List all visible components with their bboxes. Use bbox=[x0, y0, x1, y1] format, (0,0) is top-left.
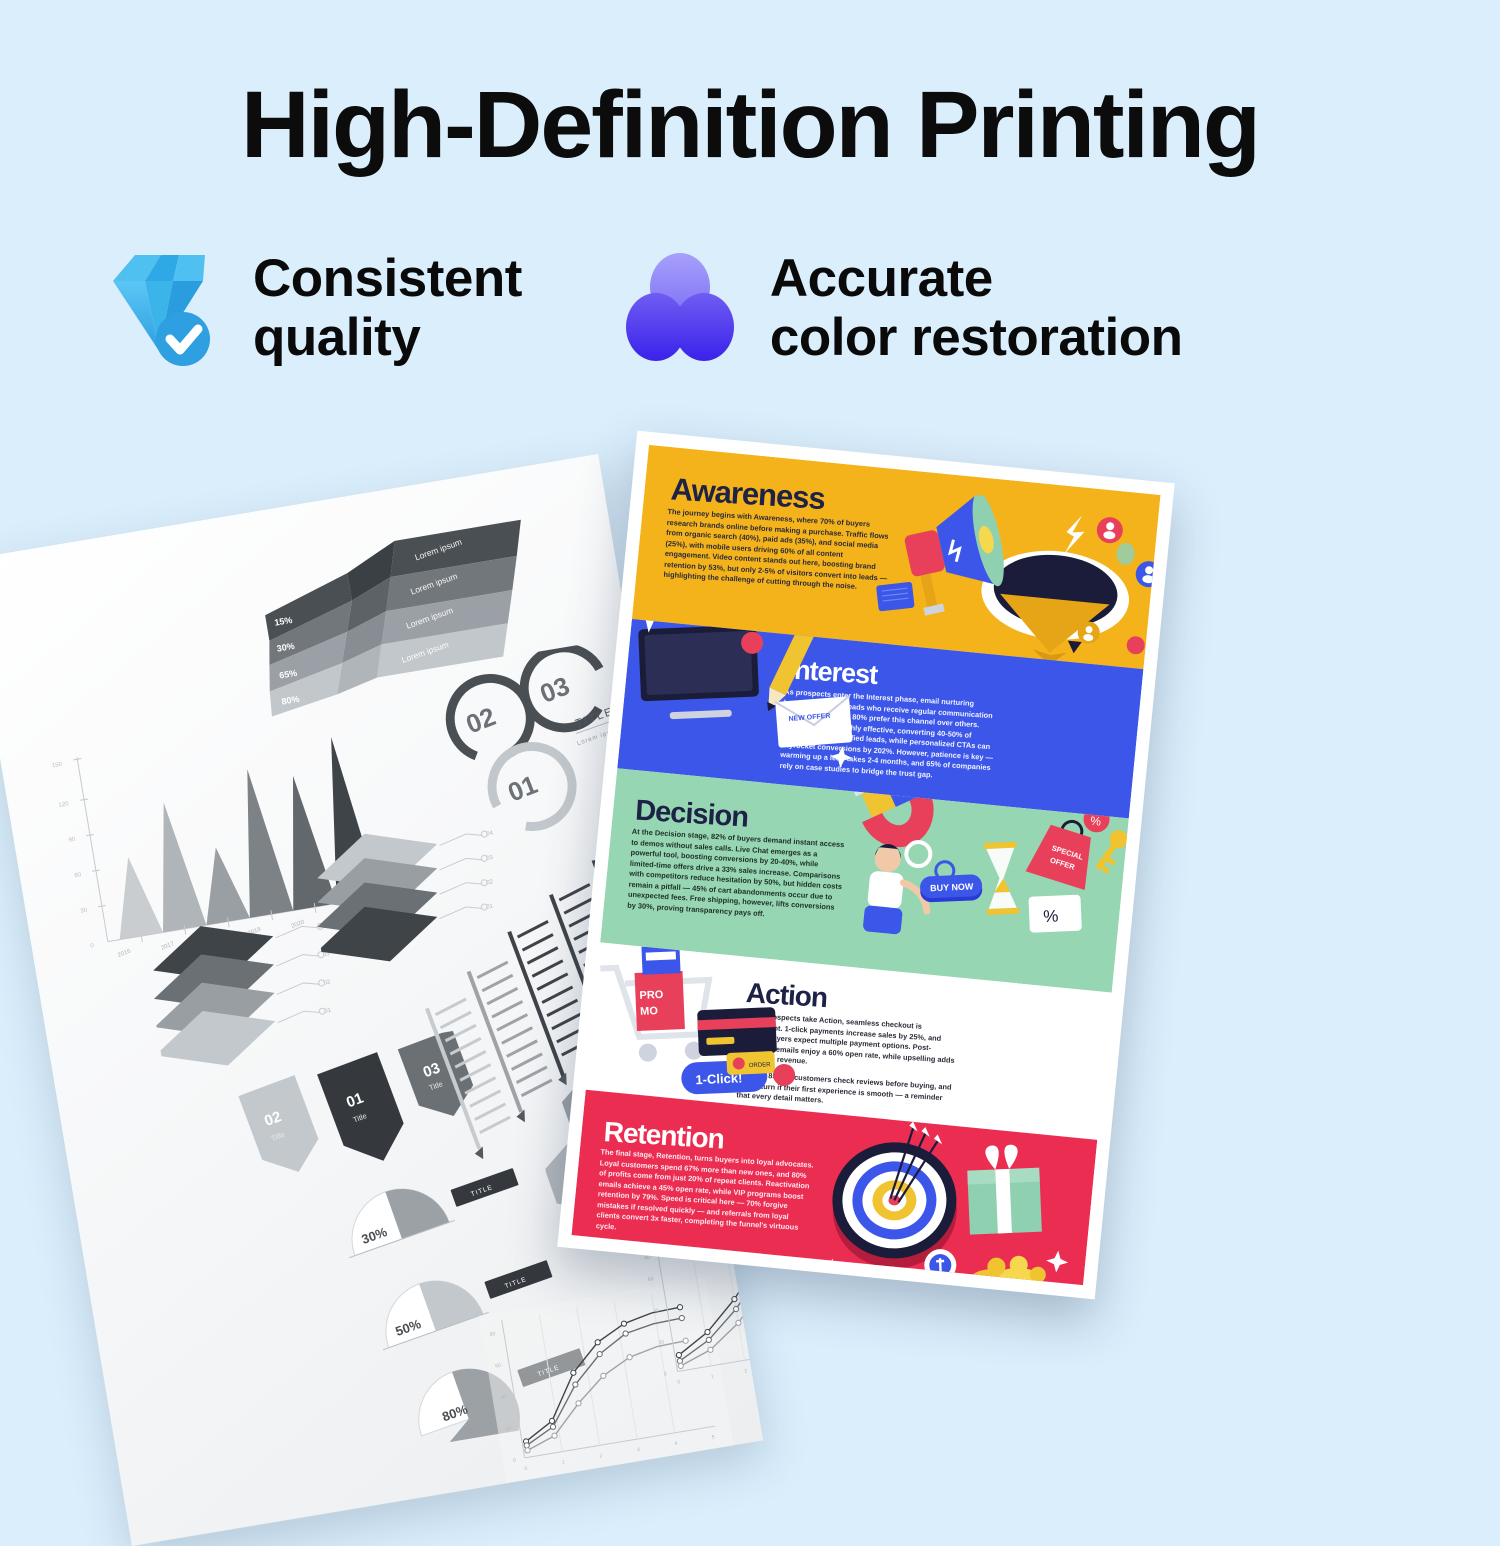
marketing-funnel-poster: Awareness The journey begins with Awaren… bbox=[557, 431, 1174, 1300]
banner-stage: High-Definition Printing bbox=[0, 0, 1500, 1500]
feature-accurate-color: Accurate color restoration bbox=[622, 243, 1183, 373]
svg-text:90: 90 bbox=[68, 837, 76, 844]
svg-text:20: 20 bbox=[658, 1339, 665, 1346]
svg-text:BUY NOW: BUY NOW bbox=[930, 881, 974, 893]
svg-text:0: 0 bbox=[90, 943, 95, 950]
feature-label: Consistent quality bbox=[253, 249, 522, 368]
band-body: When prospects take Action, seamless che… bbox=[740, 1010, 958, 1076]
svg-text:2: 2 bbox=[744, 1368, 748, 1374]
svg-text:03: 03 bbox=[536, 670, 574, 709]
svg-text:60: 60 bbox=[74, 872, 82, 879]
feature-label: Accurate color restoration bbox=[770, 249, 1183, 368]
svg-text:60: 60 bbox=[495, 1363, 502, 1370]
band-body: The final stage, Retention, turns buyers… bbox=[596, 1147, 816, 1244]
svg-text:%: % bbox=[1043, 907, 1059, 927]
band-body: As prospects enter the Interest phase, e… bbox=[779, 687, 999, 784]
svg-text:60: 60 bbox=[648, 1276, 655, 1283]
svg-text:120: 120 bbox=[58, 801, 70, 809]
svg-text:OFFER: OFFER bbox=[1049, 855, 1077, 871]
page-title: High-Definition Printing bbox=[0, 78, 1500, 173]
feature-list: Consistent quality bbox=[105, 243, 1405, 373]
svg-text:30: 30 bbox=[80, 908, 88, 915]
svg-text:1: 1 bbox=[710, 1374, 714, 1380]
diamond-check-icon bbox=[105, 243, 225, 373]
svg-text:20: 20 bbox=[505, 1426, 512, 1433]
svg-text:MO: MO bbox=[640, 1005, 659, 1018]
band-body: The journey begins with Awareness, where… bbox=[663, 507, 892, 595]
color-circles-icon bbox=[622, 243, 742, 373]
svg-text:0: 0 bbox=[663, 1371, 667, 1377]
svg-text:80: 80 bbox=[490, 1331, 497, 1338]
svg-text:40: 40 bbox=[500, 1394, 507, 1401]
svg-text:PRO: PRO bbox=[639, 989, 664, 1002]
svg-text:1-Click!: 1-Click! bbox=[695, 1070, 743, 1087]
svg-text:0: 0 bbox=[677, 1379, 681, 1385]
svg-text:150: 150 bbox=[52, 762, 64, 770]
svg-text:02: 02 bbox=[462, 701, 500, 740]
band-body: At the Decision stage, 82% of buyers dem… bbox=[627, 827, 847, 924]
svg-text:40: 40 bbox=[653, 1308, 660, 1315]
feature-consistent-quality: Consistent quality bbox=[105, 243, 522, 373]
svg-text:2016: 2016 bbox=[117, 948, 132, 959]
